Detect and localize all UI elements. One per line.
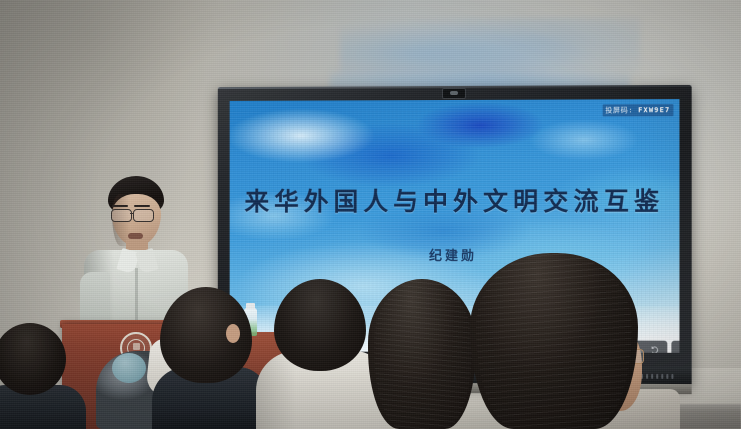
cast-code-label: 投屏码: bbox=[605, 106, 633, 114]
foreground-helmet bbox=[112, 353, 146, 383]
audience-member-left bbox=[152, 281, 260, 429]
audience-member-right bbox=[470, 253, 670, 429]
audience-member-far-left bbox=[0, 333, 80, 429]
glasses-icon bbox=[111, 209, 132, 222]
camera-icon bbox=[442, 88, 466, 99]
glasses-icon bbox=[133, 209, 154, 222]
cast-code-value: FXW9E7 bbox=[638, 106, 670, 114]
presenter-mouth bbox=[128, 233, 143, 239]
lecture-photo-scene: 来华外国人与中外文明交流互鉴 纪建勋 投屏码: FXW9E7 批注 bbox=[0, 0, 741, 429]
slide-title: 来华外国人与中外文明交流互鉴 bbox=[230, 182, 680, 218]
glasses-bridge bbox=[130, 213, 134, 214]
screen-cast-code: 投屏码: FXW9E7 bbox=[602, 104, 673, 116]
back-icon[interactable]: 返回 bbox=[674, 343, 679, 353]
toolbar-nav-group[interactable]: 返回 应用 bbox=[671, 341, 679, 353]
